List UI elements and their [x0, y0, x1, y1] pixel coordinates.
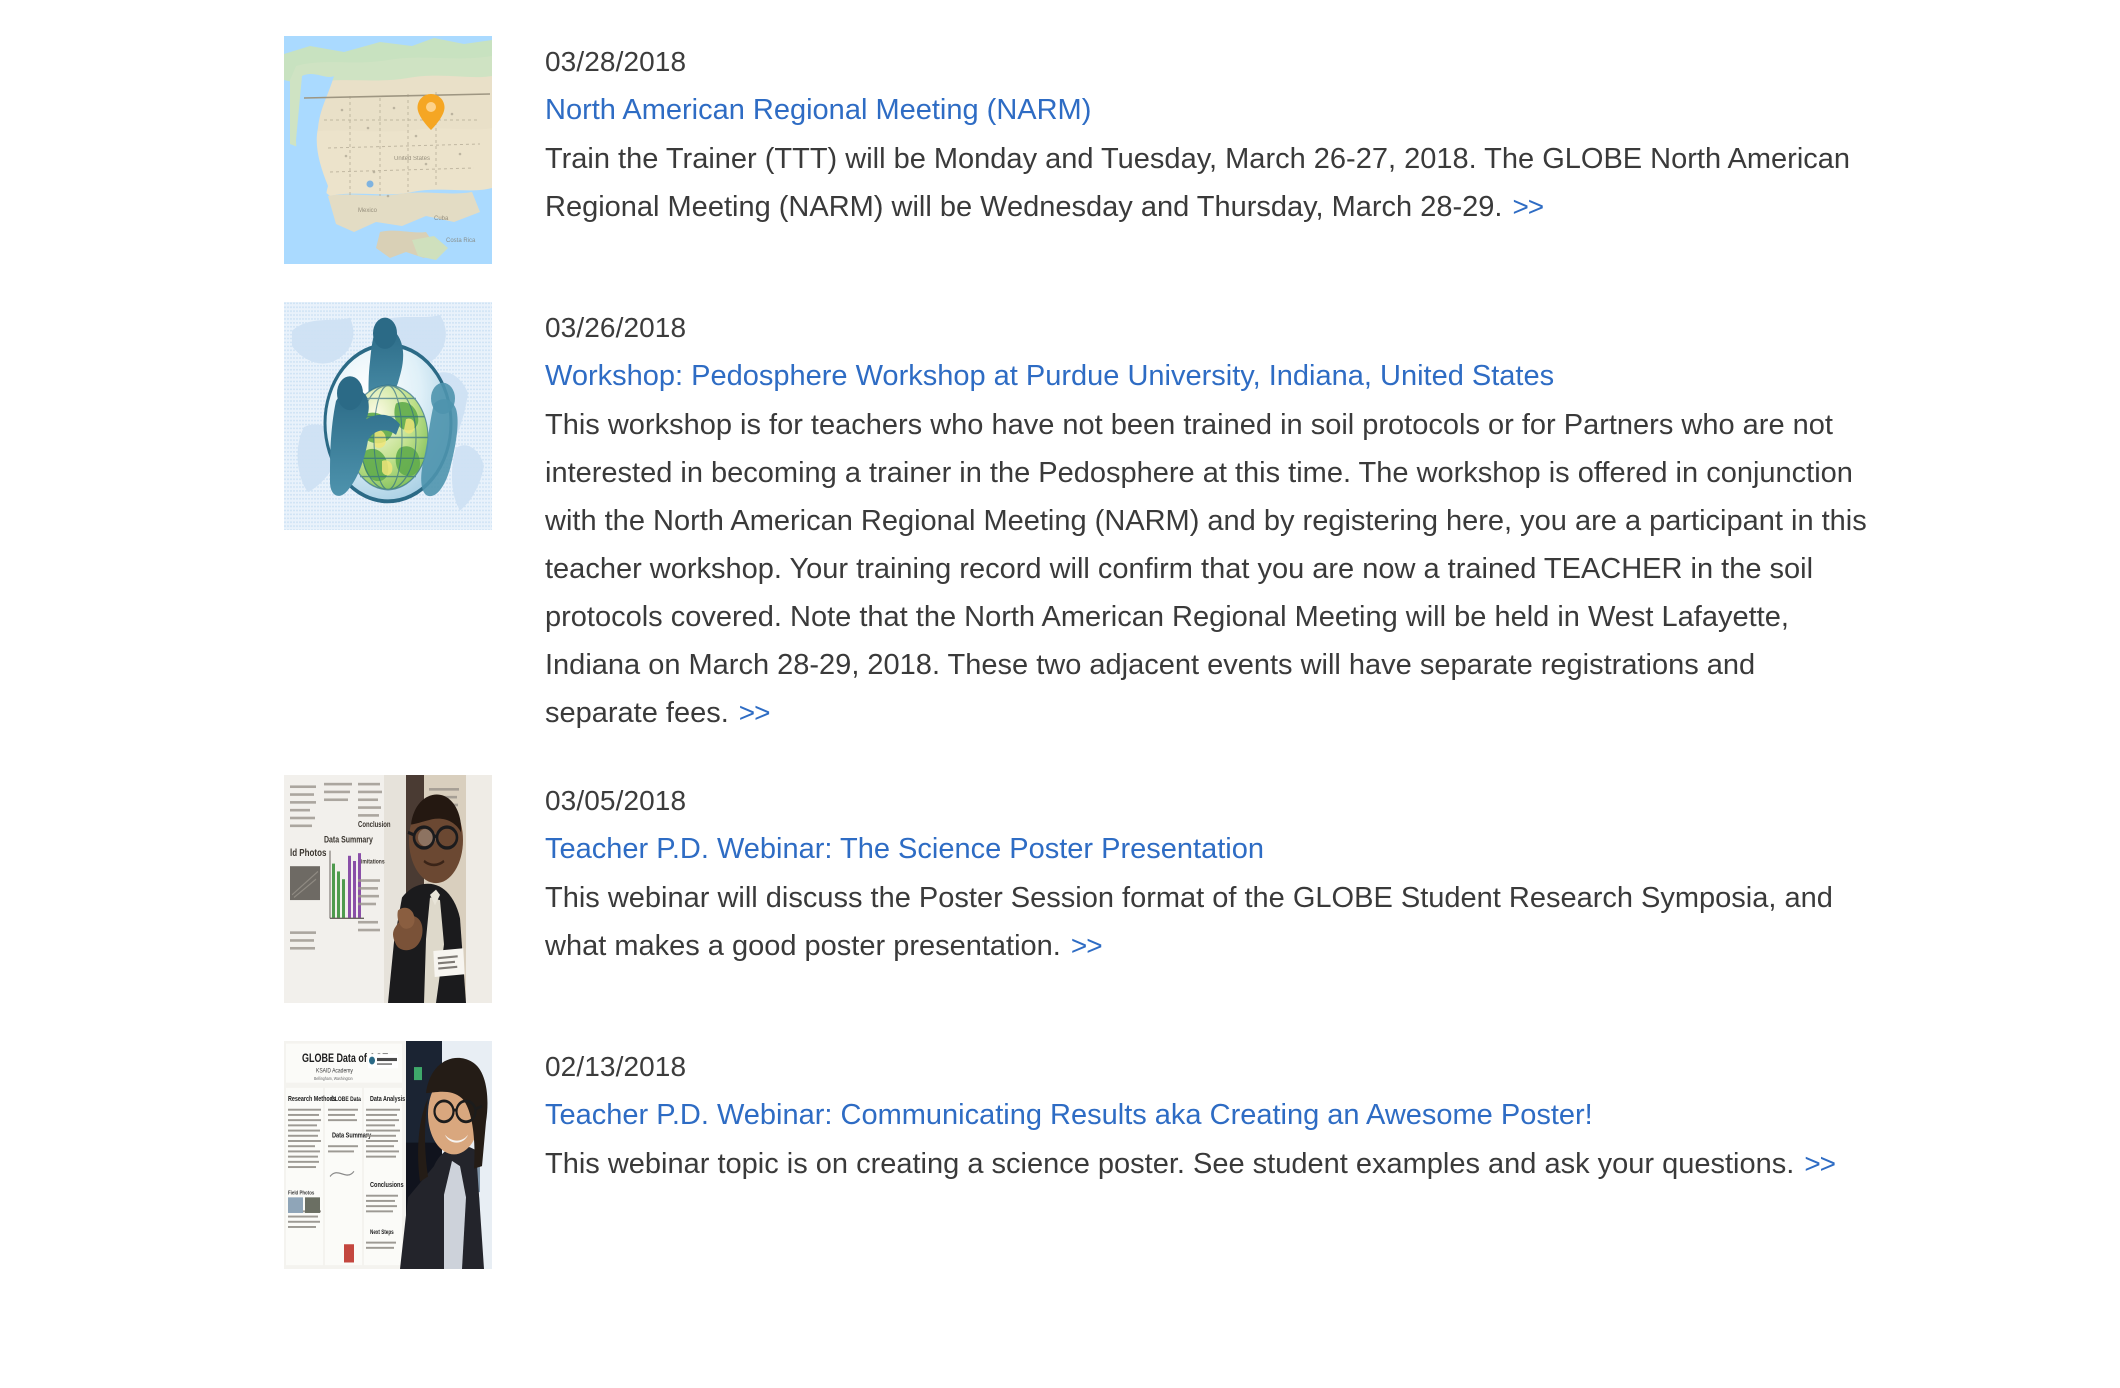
svg-text:Mexico: Mexico	[358, 208, 378, 214]
item-text-column: 03/28/2018 North American Regional Meeti…	[545, 36, 1875, 231]
thumbnail-column: United States Mexico Cuba Costa Rica	[284, 36, 492, 264]
svg-text:Costa Rica: Costa Rica	[446, 238, 476, 244]
item-date: 03/28/2018	[545, 38, 1875, 86]
read-more-link[interactable]: >>	[1794, 1148, 1835, 1179]
item-body: Train the Trainer (TTT) will be Monday a…	[545, 135, 1875, 231]
list-item: ld Photos Data Summary Conclusion Limita…	[284, 775, 2120, 1003]
svg-text:Data Summary: Data Summary	[324, 835, 373, 845]
news-feed-list: United States Mexico Cuba Costa Rica	[0, 0, 2120, 1269]
svg-text:Next Steps: Next Steps	[370, 1229, 394, 1236]
svg-text:Limitations: Limitations	[358, 859, 385, 866]
item-body-text: This workshop is for teachers who have n…	[545, 409, 1867, 729]
list-item: 03/26/2018 Workshop: Pedosphere Workshop…	[284, 302, 2120, 737]
thumbnail-map-north-america[interactable]: United States Mexico Cuba Costa Rica	[284, 36, 492, 264]
item-body-text: This webinar topic is on creating a scie…	[545, 1148, 1794, 1180]
svg-text:Conclusions: Conclusions	[370, 1181, 404, 1189]
read-more-link[interactable]: >>	[1502, 191, 1543, 222]
photo-student-presenting-icon: ld Photos Data Summary Conclusion Limita…	[284, 775, 492, 1003]
item-body: This webinar will discuss the Poster Ses…	[545, 874, 1875, 970]
svg-text:United States: United States	[394, 156, 430, 162]
item-text-column: 03/26/2018 Workshop: Pedosphere Workshop…	[545, 302, 1875, 737]
svg-text:Data Summary: Data Summary	[332, 1132, 372, 1140]
item-date: 02/13/2018	[545, 1043, 1875, 1091]
svg-text:Research Methods: Research Methods	[288, 1095, 336, 1103]
svg-text:Bellingham, Washington: Bellingham, Washington	[314, 1076, 353, 1082]
item-title-link[interactable]: Teacher P.D. Webinar: The Science Poster…	[545, 825, 1875, 874]
item-title-link[interactable]: Teacher P.D. Webinar: Communicating Resu…	[545, 1091, 1875, 1140]
item-title-link[interactable]: Workshop: Pedosphere Workshop at Purdue …	[545, 352, 1875, 401]
svg-text:ld Photos: ld Photos	[290, 847, 326, 858]
thumbnail-column: GLOBE Data of AOT KSAID Academy Bellingh…	[284, 1041, 492, 1269]
item-body-text: This webinar will discuss the Poster Ses…	[545, 882, 1833, 962]
read-more-link[interactable]: >>	[729, 697, 770, 728]
thumbnail-student-presenting[interactable]: ld Photos Data Summary Conclusion Limita…	[284, 775, 492, 1003]
item-body: This webinar topic is on creating a scie…	[545, 1140, 1875, 1188]
item-text-column: 03/05/2018 Teacher P.D. Webinar: The Sci…	[545, 775, 1875, 970]
photo-student-poster-icon: GLOBE Data of AOT KSAID Academy Bellingh…	[284, 1041, 492, 1269]
item-text-column: 02/13/2018 Teacher P.D. Webinar: Communi…	[545, 1041, 1875, 1188]
item-body-text: Train the Trainer (TTT) will be Monday a…	[545, 143, 1850, 223]
read-more-link[interactable]: >>	[1061, 930, 1102, 961]
item-body: This workshop is for teachers who have n…	[545, 401, 1875, 737]
svg-text:Field Photos: Field Photos	[288, 1190, 314, 1197]
list-item: GLOBE Data of AOT KSAID Academy Bellingh…	[284, 1041, 2120, 1269]
item-date: 03/26/2018	[545, 304, 1875, 352]
thumbnail-column	[284, 302, 492, 530]
svg-text:KSAID Academy: KSAID Academy	[316, 1068, 353, 1075]
svg-text:Cuba: Cuba	[434, 216, 449, 222]
svg-text:GLOBE Data: GLOBE Data	[331, 1096, 362, 1103]
map-icon: United States Mexico Cuba Costa Rica	[284, 36, 492, 264]
globe-logo-icon	[284, 302, 492, 530]
svg-text:Data Analysis: Data Analysis	[370, 1095, 406, 1103]
item-date: 03/05/2018	[545, 777, 1875, 825]
item-title-link[interactable]: North American Regional Meeting (NARM)	[545, 86, 1875, 135]
list-item: United States Mexico Cuba Costa Rica	[284, 36, 2120, 264]
thumbnail-globe-logo[interactable]	[284, 302, 492, 530]
thumbnail-column: ld Photos Data Summary Conclusion Limita…	[284, 775, 492, 1003]
thumbnail-student-poster[interactable]: GLOBE Data of AOT KSAID Academy Bellingh…	[284, 1041, 492, 1269]
svg-text:Conclusion: Conclusion	[358, 822, 391, 830]
